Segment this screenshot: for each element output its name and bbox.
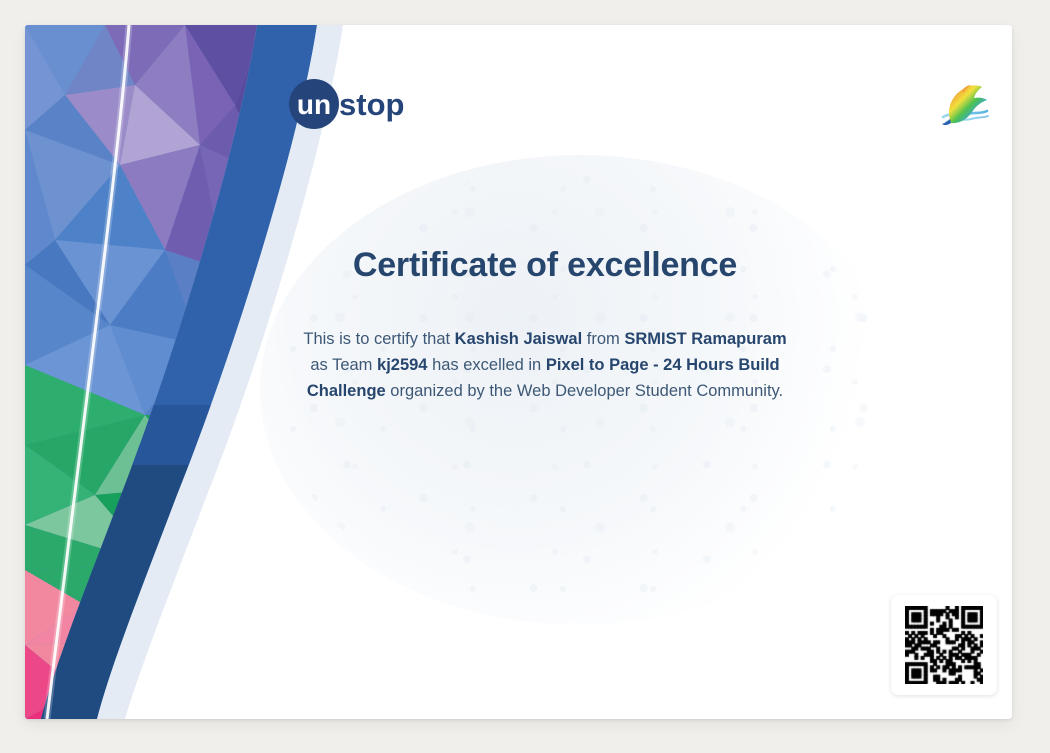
body-text-4: as Team bbox=[310, 356, 377, 374]
unstop-logo: un stop bbox=[287, 73, 437, 135]
body-text-8: organized by the Web Developer Student C… bbox=[386, 382, 783, 400]
body-highlight-5: kj2594 bbox=[377, 356, 427, 374]
body-text-6: has excelled in bbox=[427, 356, 545, 374]
certificate-content: Certificate of excellence This is to cer… bbox=[235, 245, 855, 404]
certificate-title: Certificate of excellence bbox=[235, 245, 855, 286]
certificate-card: un stop bbox=[25, 25, 1012, 719]
dolphin-logo bbox=[933, 73, 995, 135]
dolphin-tail bbox=[942, 119, 951, 125]
body-highlight-1: Kashish Jaiswal bbox=[455, 330, 582, 348]
body-text-2: from bbox=[582, 330, 624, 348]
qr-code-panel[interactable] bbox=[891, 595, 997, 695]
certificate-body-text: This is to certify that Kashish Jaiswal … bbox=[295, 326, 795, 404]
qr-code-icon[interactable] bbox=[905, 606, 983, 684]
unstop-logo-stop-text: stop bbox=[339, 87, 404, 122]
body-text-0: This is to certify that bbox=[303, 330, 454, 348]
body-highlight-3: SRMIST Ramapuram bbox=[624, 330, 786, 348]
unstop-logo-un-text: un bbox=[297, 89, 331, 120]
